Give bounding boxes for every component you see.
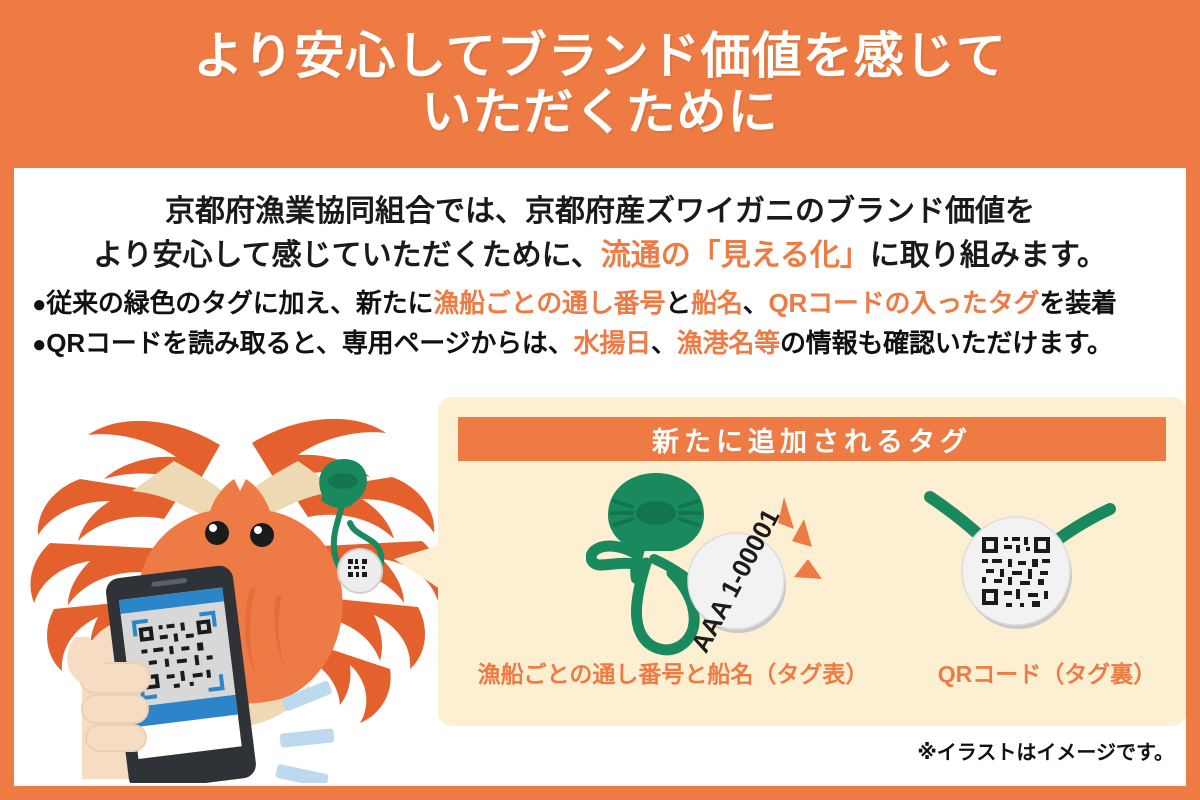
mini-qr-icon — [348, 559, 367, 577]
tag-back-illustration — [920, 489, 1120, 654]
tag-captions: 漁船ごとの通し番号と船名（タグ表） QRコード（タグ裏） — [438, 655, 1186, 689]
bullet-item-2: ●QRコードを読み取ると、専用ページからは、水揚日、漁港名等の情報も確認いただけ… — [32, 324, 1182, 364]
header-title-line-2: いただくために — [422, 84, 779, 141]
header-banner: より安心してブランド価値を感じて いただくために — [0, 0, 1200, 168]
bullet-1-highlight-1: 漁船ごとの通し番号 — [433, 288, 665, 318]
new-tag-panel: 新たに追加されるタグ — [438, 397, 1186, 726]
illustration-disclaimer: ※イラストはイメージです。 — [14, 736, 1174, 765]
caption-tag-front: 漁船ごとの通し番号と船名（タグ表） — [438, 655, 908, 689]
intro-paragraph: 京都府漁業協同組合では、京都府産ズワイガニのブランド価値を より安心して感じてい… — [14, 190, 1186, 277]
bullet-2-highlight-1: 水揚日 — [574, 328, 651, 358]
green-seal-tag-icon — [591, 473, 704, 650]
panel-title: 新たに追加されるタグ — [458, 417, 1166, 461]
bullet-item-1: ●従来の緑色のタグに加え、新たに漁船ごとの通し番号と船名、QRコードの入ったタグ… — [32, 284, 1182, 324]
header-title-line-1: より安心してブランド価値を感じて — [193, 28, 1007, 85]
caption-tag-back: QRコード（タグ裏） — [908, 655, 1186, 689]
bullet-list: ●従来の緑色のタグに加え、新たに漁船ごとの通し番号と船名、QRコードの入ったタグ… — [32, 284, 1182, 363]
bullet-marker: ● — [32, 331, 46, 358]
intro-line-2: より安心して感じていただくために、流通の「見える化」に取り組みます。 — [14, 234, 1186, 278]
tag-illustrations: AAA 1-00001 — [438, 467, 1186, 657]
bullet-1-highlight-2: 船名 — [691, 288, 743, 318]
bullet-marker: ● — [32, 291, 46, 318]
panel-pointer — [394, 545, 440, 589]
tag-front-illustration: AAA 1-00001 — [586, 467, 826, 662]
content-card: 京都府漁業協同組合では、京都府産ズワイガニのブランド価値を より安心して感じてい… — [14, 168, 1186, 786]
crab-emblem-icon — [612, 501, 700, 525]
crab-and-phone-illustration — [24, 383, 444, 783]
bullet-2-highlight-2: 漁港名等 — [677, 328, 780, 358]
sparkle-icon — [778, 497, 822, 579]
intro-highlight: 流通の「見える化」 — [601, 239, 870, 272]
bullet-1-highlight-3: QRコードの入ったタグ — [769, 288, 1040, 318]
poster: より安心してブランド価値を感じて いただくために 京都府漁業協同組合では、京都府… — [0, 0, 1200, 800]
intro-line-1: 京都府漁業協同組合では、京都府産ズワイガニのブランド価値を — [14, 190, 1186, 234]
